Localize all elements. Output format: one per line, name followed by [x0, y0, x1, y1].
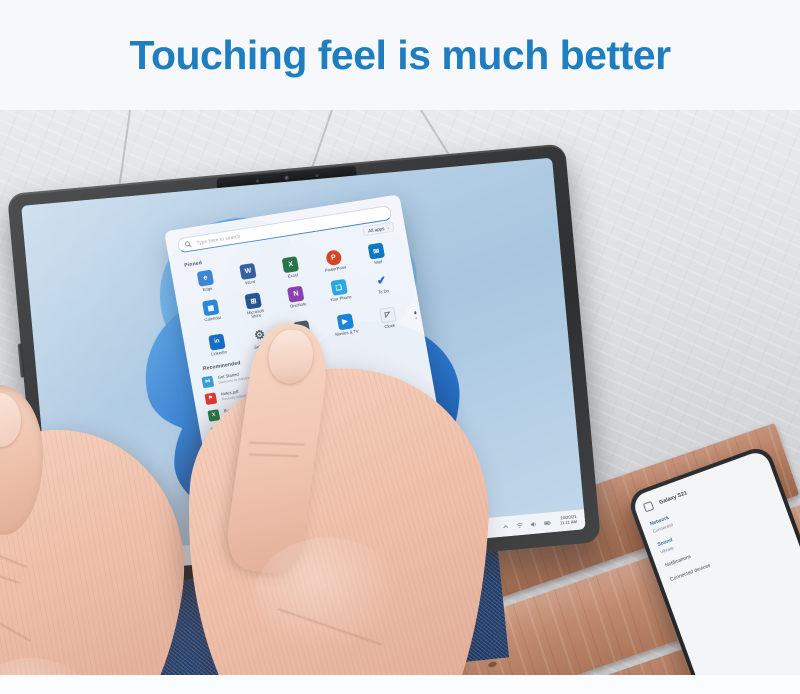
chevron-up-icon[interactable] [502, 523, 510, 531]
linkedin-icon: in [208, 333, 225, 350]
get-started-icon: ⋈ [201, 376, 214, 389]
calendar-icon: ▦ [202, 299, 219, 316]
thumbnail [0, 393, 21, 447]
search-icon [184, 240, 192, 248]
app-label: Your Phone [330, 295, 352, 303]
clock-icon: ◸ [379, 306, 396, 323]
all-apps-label: All apps [368, 226, 385, 233]
pdf-file-icon: ⚑ [204, 392, 217, 405]
pinned-app-word[interactable]: W Word [226, 261, 272, 289]
app-label: PowerPoint [325, 266, 347, 273]
excel-icon: X [282, 256, 299, 273]
microsoft-store-icon: ⊞ [245, 293, 262, 310]
onenote-icon: N [287, 286, 304, 303]
page-title: Touching feel is much better [129, 32, 670, 79]
movies-tv-icon: ▶ [336, 313, 353, 330]
pinned-app-linkedin[interactable]: in LinkedIn [194, 331, 240, 359]
pinned-app-to-do[interactable]: ✔ To Do [359, 270, 406, 302]
sensor-icon [255, 179, 258, 182]
sensor-icon [315, 173, 318, 176]
clock-time: 11:11 AM [560, 520, 577, 526]
app-label: Movies & TV [335, 329, 359, 337]
fingernail [265, 327, 316, 387]
app-label: Clock [384, 323, 395, 329]
phone-header-title: Galaxy S21 [658, 490, 688, 506]
pinned-app-excel[interactable]: X Excel [268, 254, 314, 282]
pinned-app-powerpoint[interactable]: P PowerPoint [311, 247, 357, 275]
pinned-page-indicator[interactable] [414, 311, 418, 319]
app-label: Microsoft Store [242, 308, 269, 320]
app-label: Excel [287, 273, 298, 279]
pinned-app-onenote[interactable]: N OneNote [274, 284, 321, 316]
page-dot-inactive[interactable] [415, 316, 418, 319]
your-phone-icon: ❑ [330, 279, 347, 296]
app-label: To Do [378, 289, 390, 295]
chevron-right-icon: › [387, 225, 389, 230]
app-label: Mail [374, 260, 382, 265]
app-label: Word [245, 280, 256, 286]
to-do-icon: ✔ [373, 272, 390, 289]
pinned-app-edge[interactable]: e Edge [183, 267, 229, 295]
pinned-app-movies-tv[interactable]: ▶ Movies & TV [322, 311, 368, 339]
wifi-icon[interactable] [516, 521, 524, 529]
pinned-app-microsoft-store[interactable]: ⊞ Microsoft Store [231, 290, 278, 322]
search-placeholder: Type here to search [196, 233, 241, 246]
app-label: Edge [202, 287, 212, 293]
camera-lens-icon [284, 175, 289, 180]
app-label: LinkedIn [211, 350, 227, 357]
pinned-app-calendar[interactable]: ▦ Calendar [188, 297, 235, 329]
pinned-app-clock[interactable]: ◸ Clock [365, 304, 411, 332]
page-footer [0, 675, 800, 694]
pinned-app-mail[interactable]: ✉ Mail [354, 240, 400, 268]
mail-icon: ✉ [367, 243, 384, 260]
taskbar-clock[interactable]: 10/20/21 11:11 AM [559, 515, 577, 526]
product-photo: Galaxy S21 Network Connected Sound Vibra… [0, 110, 800, 675]
phone-info-icon [643, 501, 655, 513]
pinned-app-your-phone[interactable]: ❑ Your Phone [316, 277, 363, 309]
volume-icon[interactable] [530, 520, 538, 528]
app-label: OneNote [290, 302, 307, 309]
battery-icon[interactable] [544, 519, 552, 527]
phone-navigation-bar[interactable] [708, 661, 800, 675]
word-icon: W [239, 263, 256, 280]
edge-icon: e [197, 270, 214, 287]
app-label: Calendar [204, 316, 222, 323]
powerpoint-icon: P [325, 249, 342, 266]
page-banner: Touching feel is much better [0, 0, 800, 110]
page-dot-active[interactable] [414, 311, 417, 314]
